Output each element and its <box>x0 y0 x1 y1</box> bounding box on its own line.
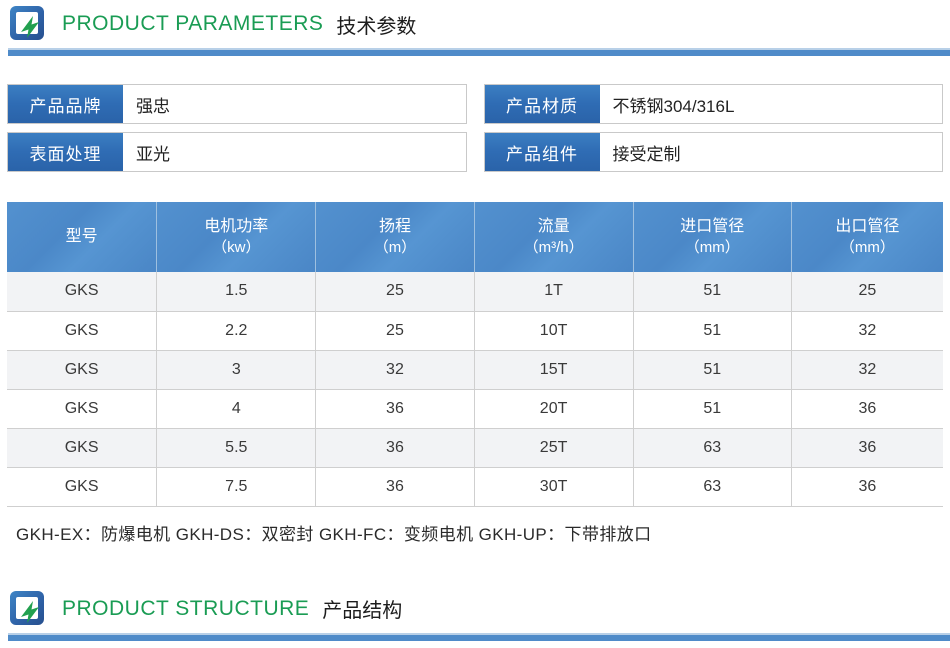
logo-z-mark-icon <box>8 4 48 44</box>
table-cell: GKS <box>7 311 157 350</box>
table-header-head: 扬程 （m） <box>316 202 474 272</box>
table-cell: 63 <box>633 467 791 506</box>
page-title-cn: 技术参数 <box>336 10 416 39</box>
table-header-inlet-diameter: 进口管径 （mm） <box>633 202 791 272</box>
table-header-motor-power: 电机功率 （kw） <box>157 202 316 272</box>
table-cell: 51 <box>633 350 791 389</box>
table-cell: 51 <box>633 272 791 311</box>
parameter-table: 型号 电机功率 （kw） 扬程 （m） 流量 （m³/h） 进口管径 （m <box>7 202 943 507</box>
page-title-en: PRODUCT PARAMETERS <box>62 12 323 36</box>
spec-value-brand: 强忠 <box>123 85 466 123</box>
table-cell: 36 <box>791 467 943 506</box>
table-cell: 2.2 <box>157 311 316 350</box>
table-footnote: GKH-EX：防爆电机 GKH-DS：双密封 GKH-FC：变频电机 GKH-U… <box>7 520 943 545</box>
table-cell: 25 <box>316 272 474 311</box>
section-header-structure: PRODUCT STRUCTURE 产品结构 <box>0 585 950 641</box>
spec-value-material: 不锈钢304/316L <box>600 85 943 123</box>
table-cell: 1T <box>474 272 633 311</box>
spec-column-right: 产品材质 不锈钢304/316L 产品组件 接受定制 <box>484 84 944 180</box>
table-header-row: 型号 电机功率 （kw） 扬程 （m） 流量 （m³/h） 进口管径 （m <box>7 202 943 272</box>
spec-value-surface-treatment: 亚光 <box>123 133 466 171</box>
table-cell: 4 <box>157 389 316 428</box>
table-cell: 15T <box>474 350 633 389</box>
table-cell: 36 <box>791 389 943 428</box>
header-name: 出口管径 <box>835 218 899 235</box>
table-cell: 51 <box>633 389 791 428</box>
table-header-model: 型号 <box>7 202 157 272</box>
table-row: GKS43620T5136 <box>7 389 943 428</box>
parameter-table-body: GKS1.5251T5125GKS2.22510T5132GKS33215T51… <box>7 272 943 506</box>
table-cell: 30T <box>474 467 633 506</box>
spec-row-material: 产品材质 不锈钢304/316L <box>484 84 944 124</box>
header-unit: （mm） <box>636 238 789 257</box>
spec-label-surface-treatment: 表面处理 <box>8 133 123 171</box>
table-cell: GKS <box>7 467 157 506</box>
table-row: GKS1.5251T5125 <box>7 272 943 311</box>
table-cell: 25 <box>316 311 474 350</box>
spec-row-surface-treatment: 表面处理 亚光 <box>7 132 467 172</box>
header-name: 进口管径 <box>680 218 744 235</box>
section-header-row: PRODUCT PARAMETERS 技术参数 <box>8 0 950 48</box>
table-cell: 32 <box>791 311 943 350</box>
spec-value-components: 接受定制 <box>600 133 943 171</box>
page-title-cn: 产品结构 <box>322 594 402 623</box>
header-name: 流量 <box>538 218 570 235</box>
table-cell: GKS <box>7 389 157 428</box>
spec-row-components: 产品组件 接受定制 <box>484 132 944 172</box>
table-header-outlet-diameter: 出口管径 （mm） <box>791 202 943 272</box>
table-cell: GKS <box>7 350 157 389</box>
table-cell: 32 <box>316 350 474 389</box>
table-row: GKS7.53630T6336 <box>7 467 943 506</box>
table-cell: 63 <box>633 428 791 467</box>
header-name: 电机功率 <box>204 218 268 235</box>
section-header-row: PRODUCT STRUCTURE 产品结构 <box>8 585 950 633</box>
parameter-table-wrapper: 型号 电机功率 （kw） 扬程 （m） 流量 （m³/h） 进口管径 （m <box>0 202 950 545</box>
table-cell: 36 <box>316 428 474 467</box>
table-cell: 36 <box>316 467 474 506</box>
section-divider-rule <box>8 48 950 56</box>
table-cell: GKS <box>7 272 157 311</box>
spec-column-left: 产品品牌 强忠 表面处理 亚光 <box>7 84 467 180</box>
table-cell: 5.5 <box>157 428 316 467</box>
header-unit: （kw） <box>159 238 313 257</box>
header-unit: （m³/h） <box>477 238 631 257</box>
table-cell: 20T <box>474 389 633 428</box>
table-cell: 3 <box>157 350 316 389</box>
table-cell: 10T <box>474 311 633 350</box>
spec-label-brand: 产品品牌 <box>8 85 123 123</box>
table-row: GKS2.22510T5132 <box>7 311 943 350</box>
spec-label-components: 产品组件 <box>485 133 600 171</box>
table-cell: 25T <box>474 428 633 467</box>
table-cell: GKS <box>7 428 157 467</box>
spec-row-brand: 产品品牌 强忠 <box>7 84 467 124</box>
section-divider-rule <box>8 633 950 641</box>
header-name: 型号 <box>66 228 98 245</box>
table-cell: 25 <box>791 272 943 311</box>
page-title-en: PRODUCT STRUCTURE <box>62 597 309 621</box>
table-cell: 36 <box>791 428 943 467</box>
table-row: GKS33215T5132 <box>7 350 943 389</box>
table-cell: 32 <box>791 350 943 389</box>
table-header-flow: 流量 （m³/h） <box>474 202 633 272</box>
spec-boxes: 产品品牌 强忠 表面处理 亚光 产品材质 不锈钢304/316L 产品组件 接受… <box>0 84 950 180</box>
spec-label-material: 产品材质 <box>485 85 600 123</box>
logo-z-mark-icon <box>8 589 48 629</box>
table-cell: 51 <box>633 311 791 350</box>
header-unit: （m） <box>318 238 471 257</box>
header-unit: （mm） <box>794 238 941 257</box>
table-cell: 7.5 <box>157 467 316 506</box>
table-row: GKS5.53625T6336 <box>7 428 943 467</box>
table-cell: 1.5 <box>157 272 316 311</box>
table-cell: 36 <box>316 389 474 428</box>
header-name: 扬程 <box>379 218 411 235</box>
section-header-parameters: PRODUCT PARAMETERS 技术参数 <box>0 0 950 56</box>
